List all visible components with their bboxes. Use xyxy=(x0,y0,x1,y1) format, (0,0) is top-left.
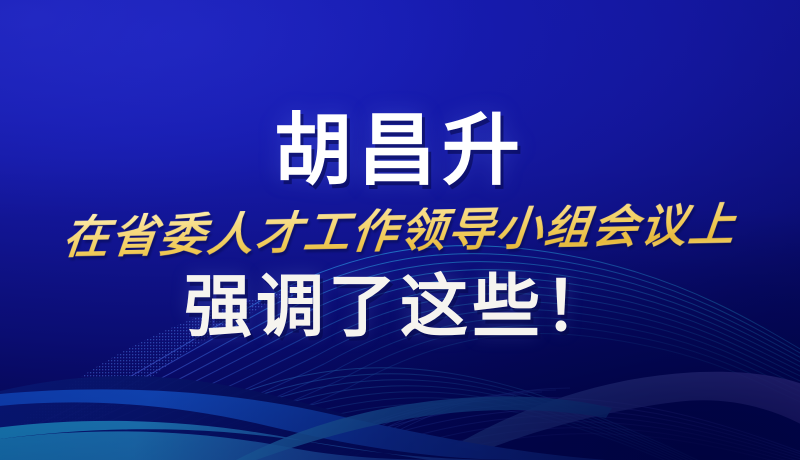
background-wave-artwork xyxy=(0,0,800,460)
headline-banner: 胡昌升 在省委人才工作领导小组会议上 强调了这些！ xyxy=(0,0,800,460)
